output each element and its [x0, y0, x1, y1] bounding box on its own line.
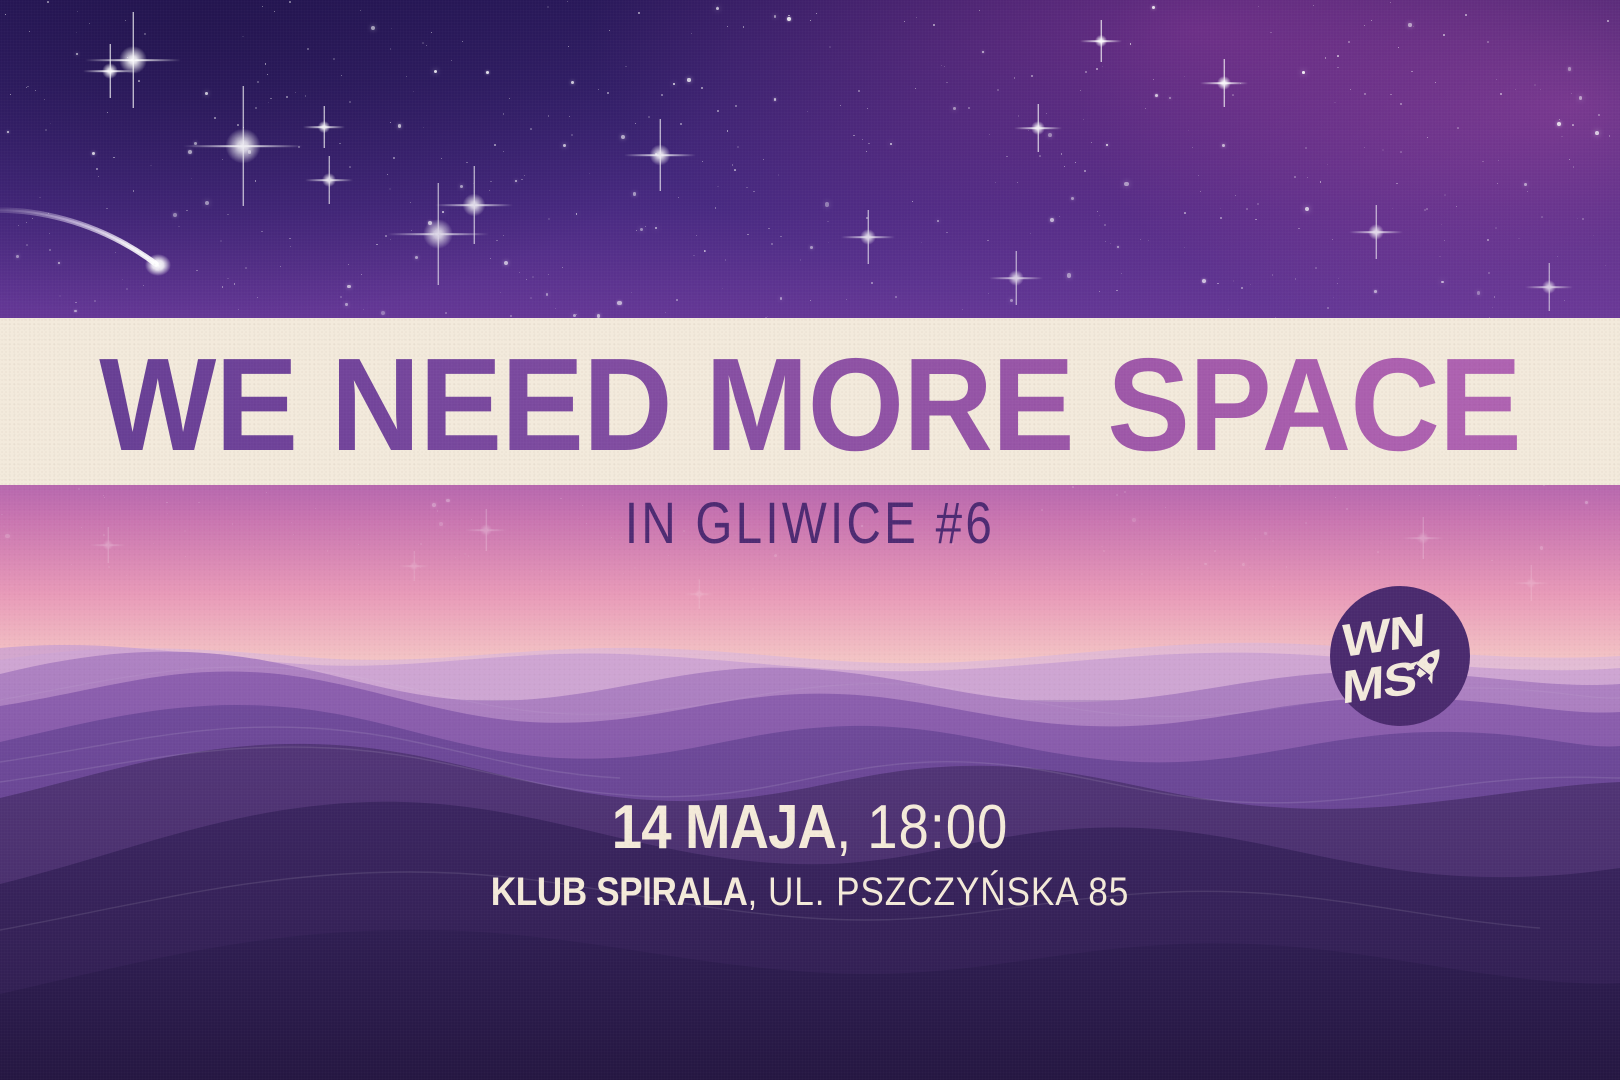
- event-time: 18:00: [867, 793, 1008, 862]
- event-date: 14 MAJA: [612, 793, 836, 862]
- date-separator: ,: [836, 793, 852, 862]
- subtitle-edition: #6: [936, 491, 995, 556]
- page-title: WE NEED MORE SPACE: [49, 318, 1572, 485]
- subtitle: INGLIWICE #6: [146, 495, 1474, 553]
- event-poster: WE NEED MORE SPACE INGLIWICE #6 WN MS 14…: [0, 0, 1620, 1080]
- subtitle-city: GLIWICE: [695, 491, 919, 556]
- event-venue: KLUB SPIRALA, UL. PSZCZYŃSKA 85: [97, 871, 1523, 913]
- subtitle-prefix: IN: [625, 491, 679, 556]
- venue-address: UL. PSZCZYŃSKA 85: [768, 870, 1129, 914]
- event-details: 14 MAJA, 18:00 KLUB SPIRALA, UL. PSZCZYŃ…: [0, 795, 1620, 913]
- venue-separator: ,: [748, 870, 759, 914]
- svg-text:MS: MS: [1341, 652, 1416, 714]
- venue-name: KLUB SPIRALA: [491, 870, 748, 914]
- event-date-time: 14 MAJA, 18:00: [97, 795, 1523, 860]
- wnms-logo-badge[interactable]: WN MS: [1327, 583, 1473, 729]
